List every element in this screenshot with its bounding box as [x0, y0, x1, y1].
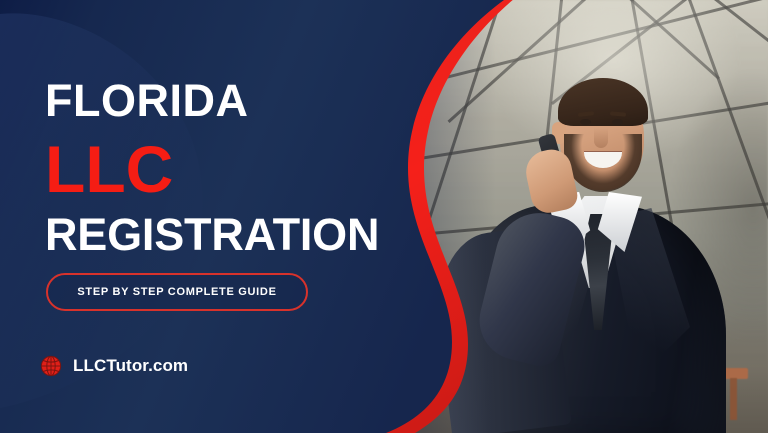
cta-badge[interactable]: STEP BY STEP COMPLETE GUIDE	[46, 273, 308, 311]
promo-banner: FLORIDA LLC REGISTRATION STEP BY STEP CO…	[0, 0, 768, 433]
headline-line-registration: REGISTRATION	[45, 212, 379, 257]
headline-line-llc: LLC	[45, 136, 173, 202]
brand-logo[interactable]: LLCTutor.com	[40, 355, 188, 377]
banner-content: FLORIDA LLC REGISTRATION STEP BY STEP CO…	[0, 0, 420, 433]
cta-badge-label: STEP BY STEP COMPLETE GUIDE	[77, 286, 276, 298]
businessman-figure	[400, 0, 768, 433]
brand-name-label: LLCTutor.com	[73, 356, 188, 376]
headline-line-state: FLORIDA	[45, 78, 248, 123]
businessman-photo	[400, 0, 768, 433]
globe-icon	[40, 355, 62, 377]
